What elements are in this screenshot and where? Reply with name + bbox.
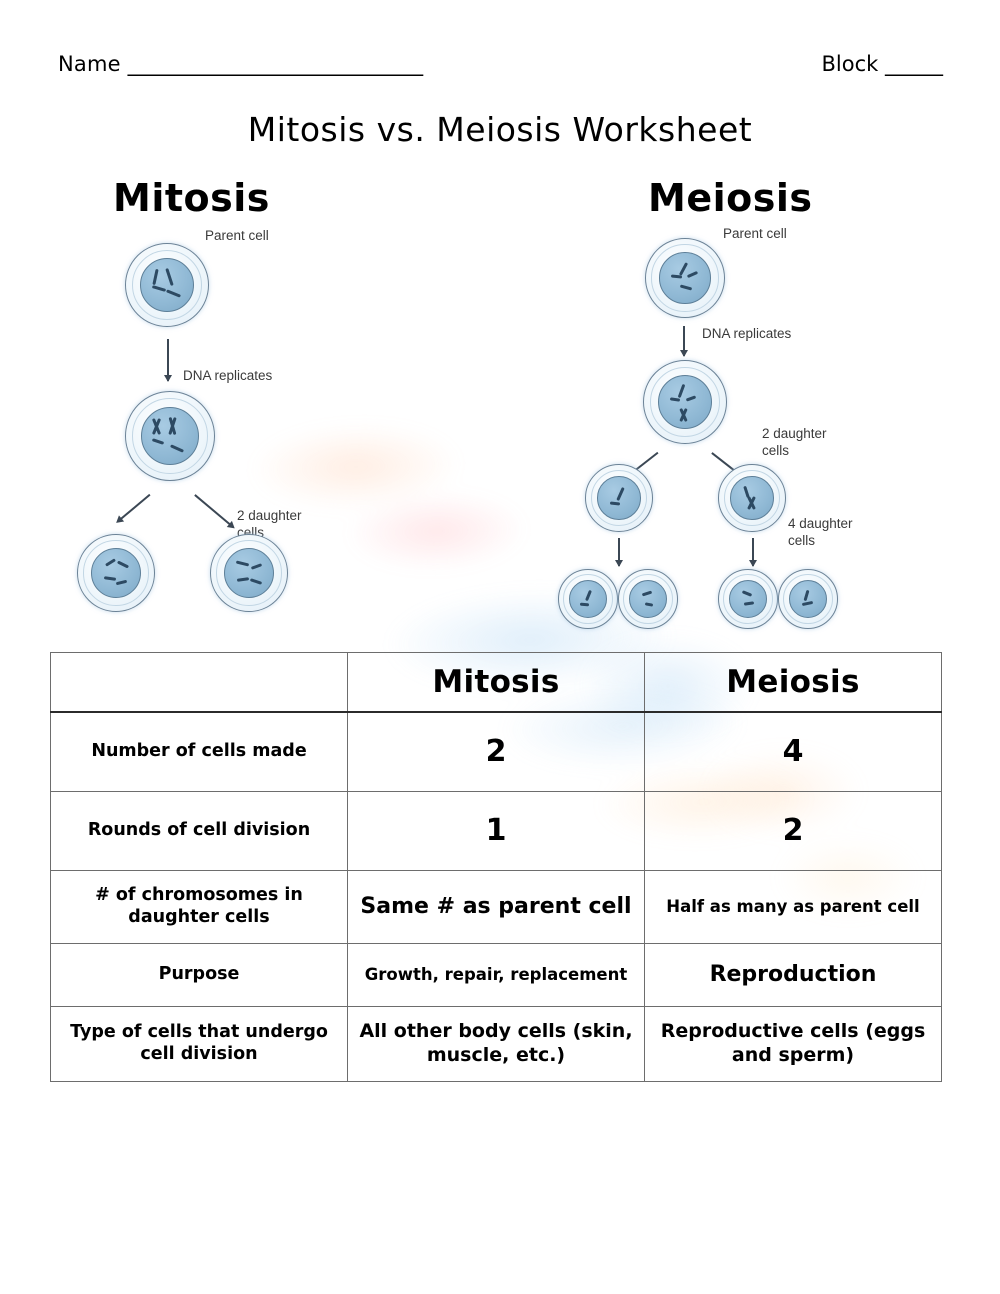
meiosis-final-cell-1 — [558, 569, 618, 629]
cell-mitosis-cell-type: All other body cells (skin, muscle, etc.… — [348, 1007, 645, 1082]
meiosis-daughter-cell-a — [585, 464, 653, 532]
cell-meiosis-number-of-cells: 4 — [645, 712, 942, 792]
row-attribute-rounds-of-division: Rounds of cell division — [51, 792, 348, 871]
cell-mitosis-number-of-cells: 2 — [348, 712, 645, 792]
cell-mitosis-rounds-of-division: 1 — [348, 792, 645, 871]
meiosis-final-cell-4 — [778, 569, 838, 629]
meiosis-replication-arrow — [683, 326, 685, 356]
row-attribute-cell-type: Type of cells that undergo cell division — [51, 1007, 348, 1082]
mitosis-split-arrow-left — [117, 494, 150, 522]
block-label: Block — [822, 52, 879, 76]
name-field-group: Name _______________________________ — [58, 52, 422, 76]
mitosis-diagram-panel: Mitosis Parent cell DNA replicates — [55, 176, 485, 626]
table-header-mitosis: Mitosis — [348, 653, 645, 713]
nucleus — [569, 580, 607, 618]
meiosis-replicated-cell — [643, 360, 727, 444]
meiosis-parent-cell — [645, 238, 725, 318]
table-row: Number of cells made 2 4 — [51, 712, 942, 792]
name-label: Name — [58, 52, 121, 76]
meiosis-4-daughter-cells-label: 4 daughter cells — [788, 516, 853, 550]
cell-meiosis-purpose: Reproduction — [645, 944, 942, 1007]
block-field-group: Block ______ — [822, 52, 942, 76]
mitosis-parent-cell — [125, 243, 209, 327]
mitosis-replicated-cell — [125, 391, 215, 481]
table-header-row: Mitosis Meiosis — [51, 653, 942, 713]
table-row: Type of cells that undergo cell division… — [51, 1007, 942, 1082]
name-write-in-line[interactable]: _______________________________ — [128, 52, 423, 76]
nucleus — [659, 252, 710, 303]
meiosis-split2-arrow-left — [618, 538, 620, 566]
table-header-attribute — [51, 653, 348, 713]
mitosis-parent-cell-label: Parent cell — [205, 228, 269, 245]
table-row: Purpose Growth, repair, replacement Repr… — [51, 944, 942, 1007]
row-attribute-purpose: Purpose — [51, 944, 348, 1007]
nucleus — [730, 476, 774, 520]
nucleus — [729, 580, 767, 618]
table-header-meiosis: Meiosis — [645, 653, 942, 713]
student-info-row: Name _______________________________ Blo… — [0, 52, 1000, 86]
nucleus — [789, 580, 827, 618]
mitosis-meiosis-comparison-table: Mitosis Meiosis Number of cells made 2 4… — [50, 652, 942, 1082]
mitosis-replication-arrow — [167, 339, 169, 381]
cell-meiosis-chromosome-count: Half as many as parent cell — [645, 871, 942, 944]
cell-mitosis-chromosome-count: Same # as parent cell — [348, 871, 645, 944]
meiosis-final-cell-3 — [718, 569, 778, 629]
row-attribute-number-of-cells: Number of cells made — [51, 712, 348, 792]
cell-mitosis-purpose: Growth, repair, replacement — [348, 944, 645, 1007]
nucleus — [658, 375, 712, 429]
meiosis-final-cell-2 — [618, 569, 678, 629]
cell-meiosis-cell-type: Reproductive cells (eggs and sperm) — [645, 1007, 942, 1082]
meiosis-dna-replicates-label: DNA replicates — [702, 326, 791, 343]
meiosis-2-daughter-cells-label: 2 daughter cells — [762, 426, 827, 460]
cell-meiosis-rounds-of-division: 2 — [645, 792, 942, 871]
mitosis-daughter-cell-2 — [210, 534, 288, 612]
table-row: Rounds of cell division 1 2 — [51, 792, 942, 871]
diagram-section: Mitosis Parent cell DNA replicates — [0, 176, 1000, 626]
nucleus — [224, 548, 274, 598]
mitosis-split-arrow-right — [194, 494, 233, 527]
meiosis-parent-cell-label: Parent cell — [723, 226, 787, 243]
nucleus — [141, 407, 199, 465]
block-write-in-line[interactable]: ______ — [885, 52, 942, 76]
table-row: # of chromosomes in daughter cells Same … — [51, 871, 942, 944]
meiosis-heading: Meiosis — [648, 176, 812, 220]
mitosis-daughter-cell-1 — [77, 534, 155, 612]
mitosis-dna-replicates-label: DNA replicates — [183, 368, 272, 385]
meiosis-split2-arrow-right — [752, 538, 754, 566]
row-attribute-chromosome-count: # of chromosomes in daughter cells — [51, 871, 348, 944]
page-title: Mitosis vs. Meiosis Worksheet — [0, 110, 1000, 149]
mitosis-heading: Mitosis — [113, 176, 270, 220]
meiosis-diagram-panel: Meiosis Parent cell DNA replicates — [540, 176, 985, 626]
meiosis-daughter-cell-b — [718, 464, 786, 532]
nucleus — [91, 548, 141, 598]
nucleus — [597, 476, 641, 520]
nucleus — [140, 258, 194, 312]
nucleus — [629, 580, 667, 618]
